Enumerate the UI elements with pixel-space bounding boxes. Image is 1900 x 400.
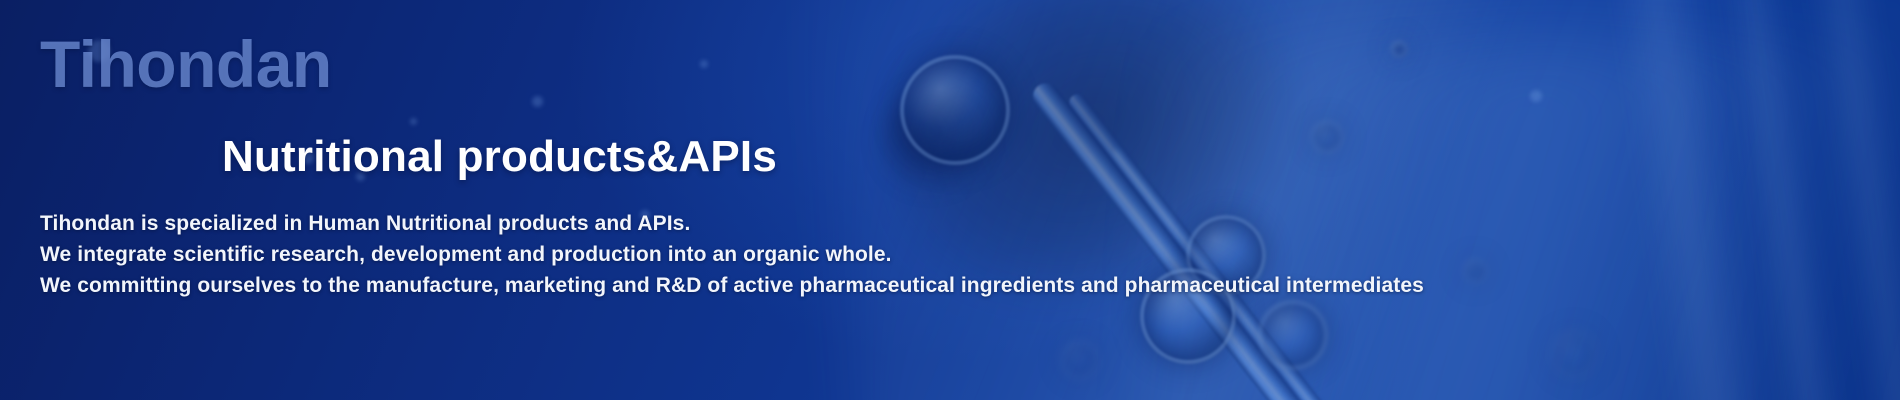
body-line: We integrate scientific research, develo… bbox=[40, 239, 1900, 270]
promo-banner: Tihondan Nutritional products&APIs Tihon… bbox=[0, 0, 1900, 400]
glass-bubble-icon bbox=[1258, 300, 1328, 370]
background-speck bbox=[700, 60, 708, 68]
glass-bubble-icon bbox=[1310, 120, 1344, 154]
light-ray-icon bbox=[1607, 0, 1763, 400]
bubble-shadow bbox=[880, 86, 990, 196]
glass-bubble-icon bbox=[1390, 40, 1408, 58]
body-line: We committing ourselves to the manufactu… bbox=[40, 270, 1900, 301]
background-speck bbox=[1530, 90, 1542, 102]
background-speck bbox=[410, 118, 417, 125]
glass-bubble-icon bbox=[1550, 330, 1598, 378]
background-speck bbox=[532, 96, 543, 107]
background-dark-wash bbox=[833, 0, 1346, 357]
glass-bubble-icon bbox=[900, 55, 1010, 165]
banner-headline: Nutritional products&APIs bbox=[222, 132, 777, 182]
glass-bubble-icon bbox=[1060, 340, 1100, 380]
brand-logo-text: Tihondan bbox=[40, 26, 332, 102]
banner-body-copy: Tihondan is specialized in Human Nutriti… bbox=[40, 208, 1900, 301]
light-ray-icon bbox=[1803, 0, 1900, 400]
body-line: Tihondan is specialized in Human Nutriti… bbox=[40, 208, 1900, 239]
background-sheen bbox=[803, 0, 1778, 400]
light-ray-icon bbox=[1719, 0, 1845, 400]
